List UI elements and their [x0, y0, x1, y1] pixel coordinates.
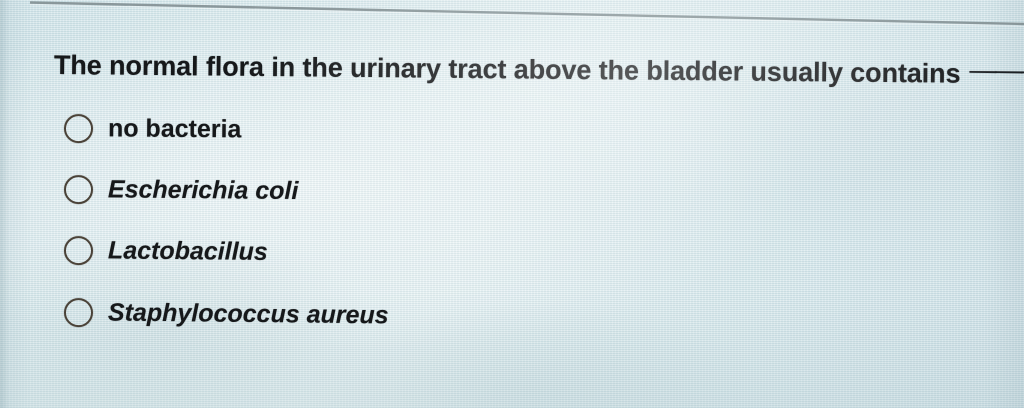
option-row-2[interactable]: Lactobacillus [64, 236, 268, 267]
radio-button-icon[interactable] [64, 236, 93, 265]
option-row-0[interactable]: no bacteria [64, 114, 242, 144]
option-label: Escherichia coli [108, 175, 299, 206]
answer-blank: —————————— [969, 55, 1024, 88]
option-label: no bacteria [108, 114, 242, 144]
question-text: The normal flora in the urinary tract ab… [54, 46, 1024, 92]
option-row-3[interactable]: Staphylococcus aureus [64, 298, 389, 330]
radio-button-icon[interactable] [64, 175, 93, 204]
radio-button-icon[interactable] [64, 298, 93, 327]
option-row-1[interactable]: Escherichia coli [64, 175, 299, 206]
option-label: Staphylococcus aureus [108, 298, 389, 330]
quiz-screen: The normal flora in the urinary tract ab… [0, 0, 1024, 408]
question-stem: The normal flora in the urinary tract ab… [54, 50, 961, 89]
radio-button-icon[interactable] [64, 114, 93, 143]
option-label: Lactobacillus [108, 236, 268, 267]
quiz-content: The normal flora in the urinary tract ab… [0, 0, 1024, 408]
